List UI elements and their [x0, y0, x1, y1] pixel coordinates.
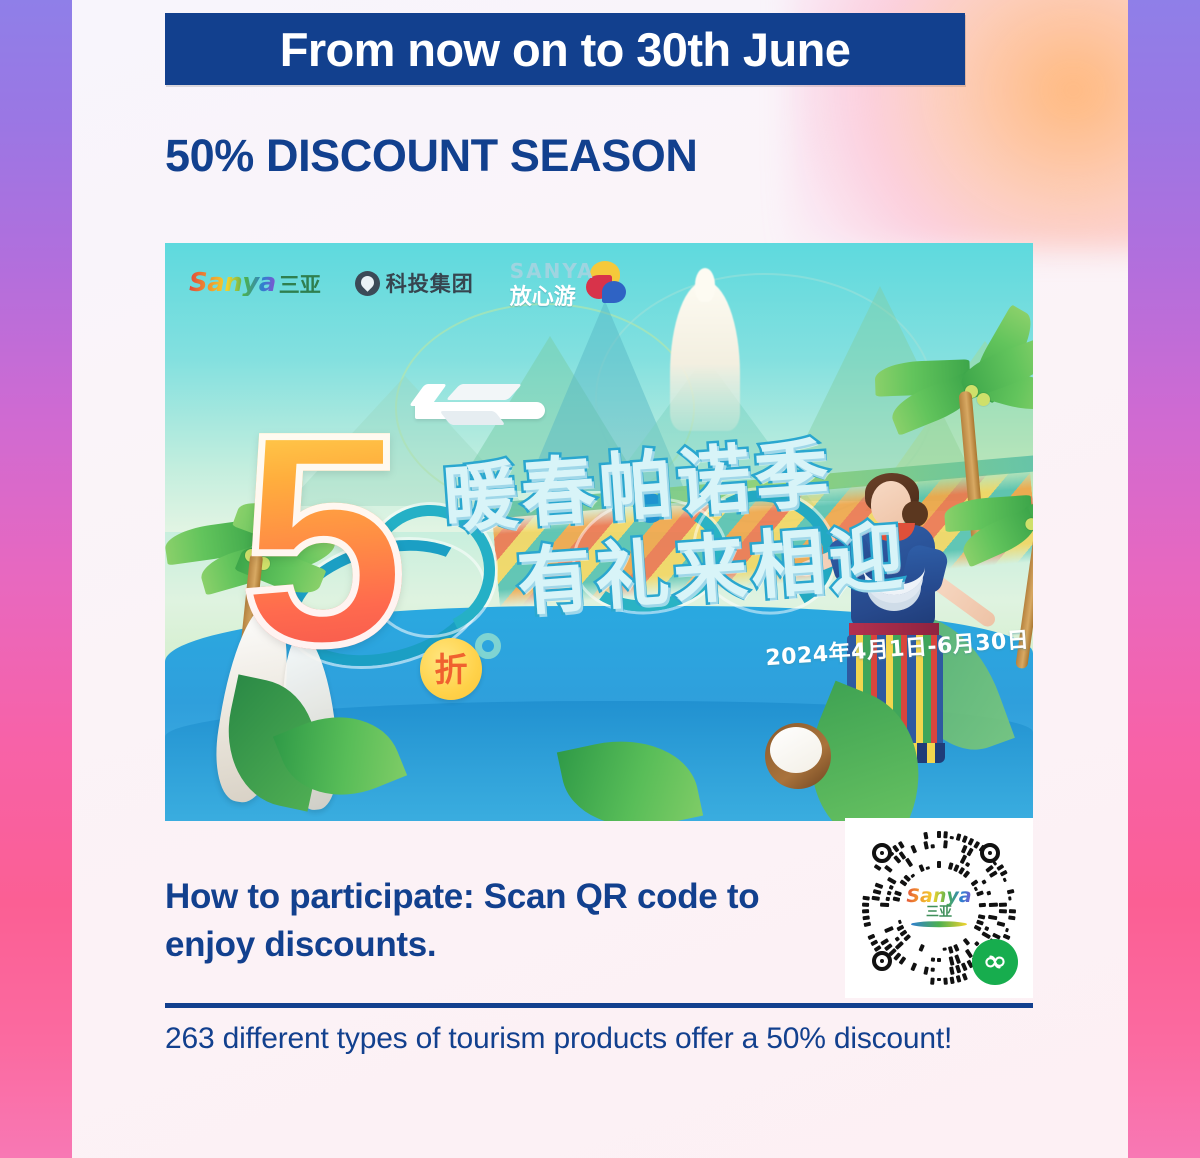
qr-center-sanya-logo: Sanya 三亚 — [904, 887, 974, 927]
qr-logo-cn: 三亚 — [904, 906, 974, 919]
wechat-miniprogram-qr-code[interactable]: Sanya 三亚 — [856, 825, 1022, 991]
date-banner: From now on to 30th June — [165, 13, 965, 85]
sanya-logo-cn: 三亚 — [279, 275, 321, 296]
right-gradient-rail — [1128, 0, 1200, 1158]
promo-card: From now on to 30th June 50% DISCOUNT SE… — [72, 0, 1128, 1158]
fangxinyou-logo: SANYA 放心游 — [508, 259, 626, 307]
wechat-miniprogram-icon — [972, 939, 1018, 985]
discount-unit-text: 折 — [435, 653, 468, 686]
coconut-illustration — [765, 723, 831, 789]
date-banner-text: From now on to 30th June — [280, 22, 850, 77]
qr-code-panel[interactable]: Sanya 三亚 — [845, 818, 1033, 998]
discount-numeral: 5 — [240, 413, 407, 665]
ketou-logo-text: 科投集团 — [386, 268, 474, 298]
qr-logo-word: Sanya — [904, 887, 974, 906]
airplane-icon — [415, 378, 545, 438]
sanya-tourism-logo: Sanya 三亚 — [189, 270, 321, 296]
discount-unit-badge: 折 — [420, 638, 482, 700]
qr-eye-top-right — [980, 843, 1000, 863]
product-count-footnote: 263 different types of tourism products … — [165, 1022, 1045, 1056]
qr-eye-bottom-left — [872, 951, 892, 971]
page-title: 50% DISCOUNT SEASON — [165, 130, 698, 182]
logo-blob-blue — [602, 281, 626, 303]
qr-logo-swoosh — [911, 921, 967, 927]
left-gradient-rail — [0, 0, 72, 1158]
sanya-logo-word: Sanya — [189, 270, 276, 296]
fangxinyou-logo-cn: 放心游 — [510, 279, 576, 311]
campaign-poster-image[interactable]: 5 折 暖春帕诺季 有礼来相迎 2024年4月1日-6月30日 Sanya 三亚… — [165, 243, 1033, 821]
poster-logo-row: Sanya 三亚 科投集团 SANYA 放心游 — [189, 259, 626, 307]
section-divider — [165, 1003, 1033, 1008]
ketou-mark-icon — [355, 271, 380, 296]
promo-page: From now on to 30th June 50% DISCOUNT SE… — [0, 0, 1200, 1158]
ketou-group-logo: 科投集团 — [355, 268, 474, 298]
how-to-participate-text: How to participate: Scan QR code to enjo… — [165, 873, 785, 970]
qr-eye-top-left — [872, 843, 892, 863]
